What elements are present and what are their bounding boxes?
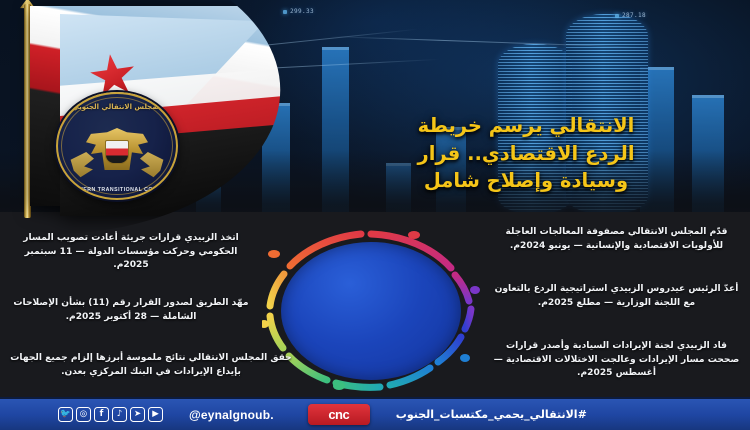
stc-emblem: المجلس الانتقالي الجنوبي SOUTHERN TRANSI… xyxy=(56,92,178,200)
ring-center-disc xyxy=(281,242,461,380)
note-item: أعدّ الرئيس عيدروس الزبيدي استراتيجية ال… xyxy=(489,283,744,310)
footer-bar: 🐦 ◎ f ♪ ➤ ▶ @eynalgnoub. cnc #الانتقالي_… xyxy=(0,397,750,430)
connector-dot xyxy=(470,286,480,294)
note-item: اتخذ الزبيدي قرارات جريئة أعادت تصويب ال… xyxy=(6,232,256,273)
youtube-icon[interactable]: ▶ xyxy=(148,407,163,422)
bg-value-label: 287.18 xyxy=(622,12,646,19)
facebook-icon[interactable]: f xyxy=(94,407,109,422)
right-notes-column: أعدّ الرئيس عيدروس الزبيدي استراتيجية ال… xyxy=(489,283,744,310)
left-notes-column: حقق المجلس الانتقالي نتائج ملموسة أبرزها… xyxy=(6,352,296,379)
twitter-icon[interactable]: 🐦 xyxy=(58,407,73,422)
emblem-arabic-text: المجلس الانتقالي الجنوبي xyxy=(58,103,176,111)
emblem-shield-icon xyxy=(105,140,129,164)
right-notes-column: قدّم المجلس الانتقالي مصفوفة المعالجات ا… xyxy=(489,226,744,253)
left-notes-column: مهّد الطريق لصدور القرار رقم (11) بشأن ا… xyxy=(6,297,256,324)
infographic-poster: 193.102 299.33 287.18 المجلس الانتقالي ا… xyxy=(0,0,750,430)
instagram-icon[interactable]: ◎ xyxy=(76,407,91,422)
title-line-2: الردع الاقتصادي.. قرار xyxy=(316,140,736,168)
emblem-latin-text: SOUTHERN TRANSITIONAL COUNCIL xyxy=(58,187,176,193)
campaign-hashtag: #الانتقالي_يحمي_مكتسبات_الجنوب xyxy=(396,408,587,421)
poster-title: الانتقالي يرسم خريطة الردع الاقتصادي.. ق… xyxy=(316,112,736,195)
connector-dot xyxy=(333,382,345,390)
telegram-icon[interactable]: ➤ xyxy=(130,407,145,422)
title-line-3: وسيادة وإصلاح شامل xyxy=(316,167,736,195)
title-line-1: الانتقالي يرسم خريطة xyxy=(316,112,736,140)
cnc-logo: cnc xyxy=(308,404,370,425)
note-item: قدّم المجلس الانتقالي مصفوفة المعالجات ا… xyxy=(489,226,744,253)
connector-dot xyxy=(460,354,470,362)
left-notes-column: اتخذ الزبيدي قرارات جريئة أعادت تصويب ال… xyxy=(6,232,256,273)
tiktok-icon[interactable]: ♪ xyxy=(112,407,127,422)
connector-dot xyxy=(408,231,420,239)
ring-segment xyxy=(465,309,471,329)
right-notes-column: قاد الزبيدي لجنة الإيرادات السيادية وأصد… xyxy=(489,340,744,381)
social-icons-row: 🐦 ◎ f ♪ ➤ ▶ xyxy=(58,407,163,422)
social-handle[interactable]: @eynalgnoub. xyxy=(189,408,274,422)
flag-assembly: المجلس الانتقالي الجنوبي SOUTHERN TRANSI… xyxy=(0,0,330,218)
note-item: حقق المجلس الانتقالي نتائج ملموسة أبرزها… xyxy=(6,352,296,379)
connector-dot xyxy=(268,250,280,258)
note-item: مهّد الطريق لصدور القرار رقم (11) بشأن ا… xyxy=(6,297,256,324)
note-item: قاد الزبيدي لجنة الإيرادات السيادية وأصد… xyxy=(489,340,744,381)
